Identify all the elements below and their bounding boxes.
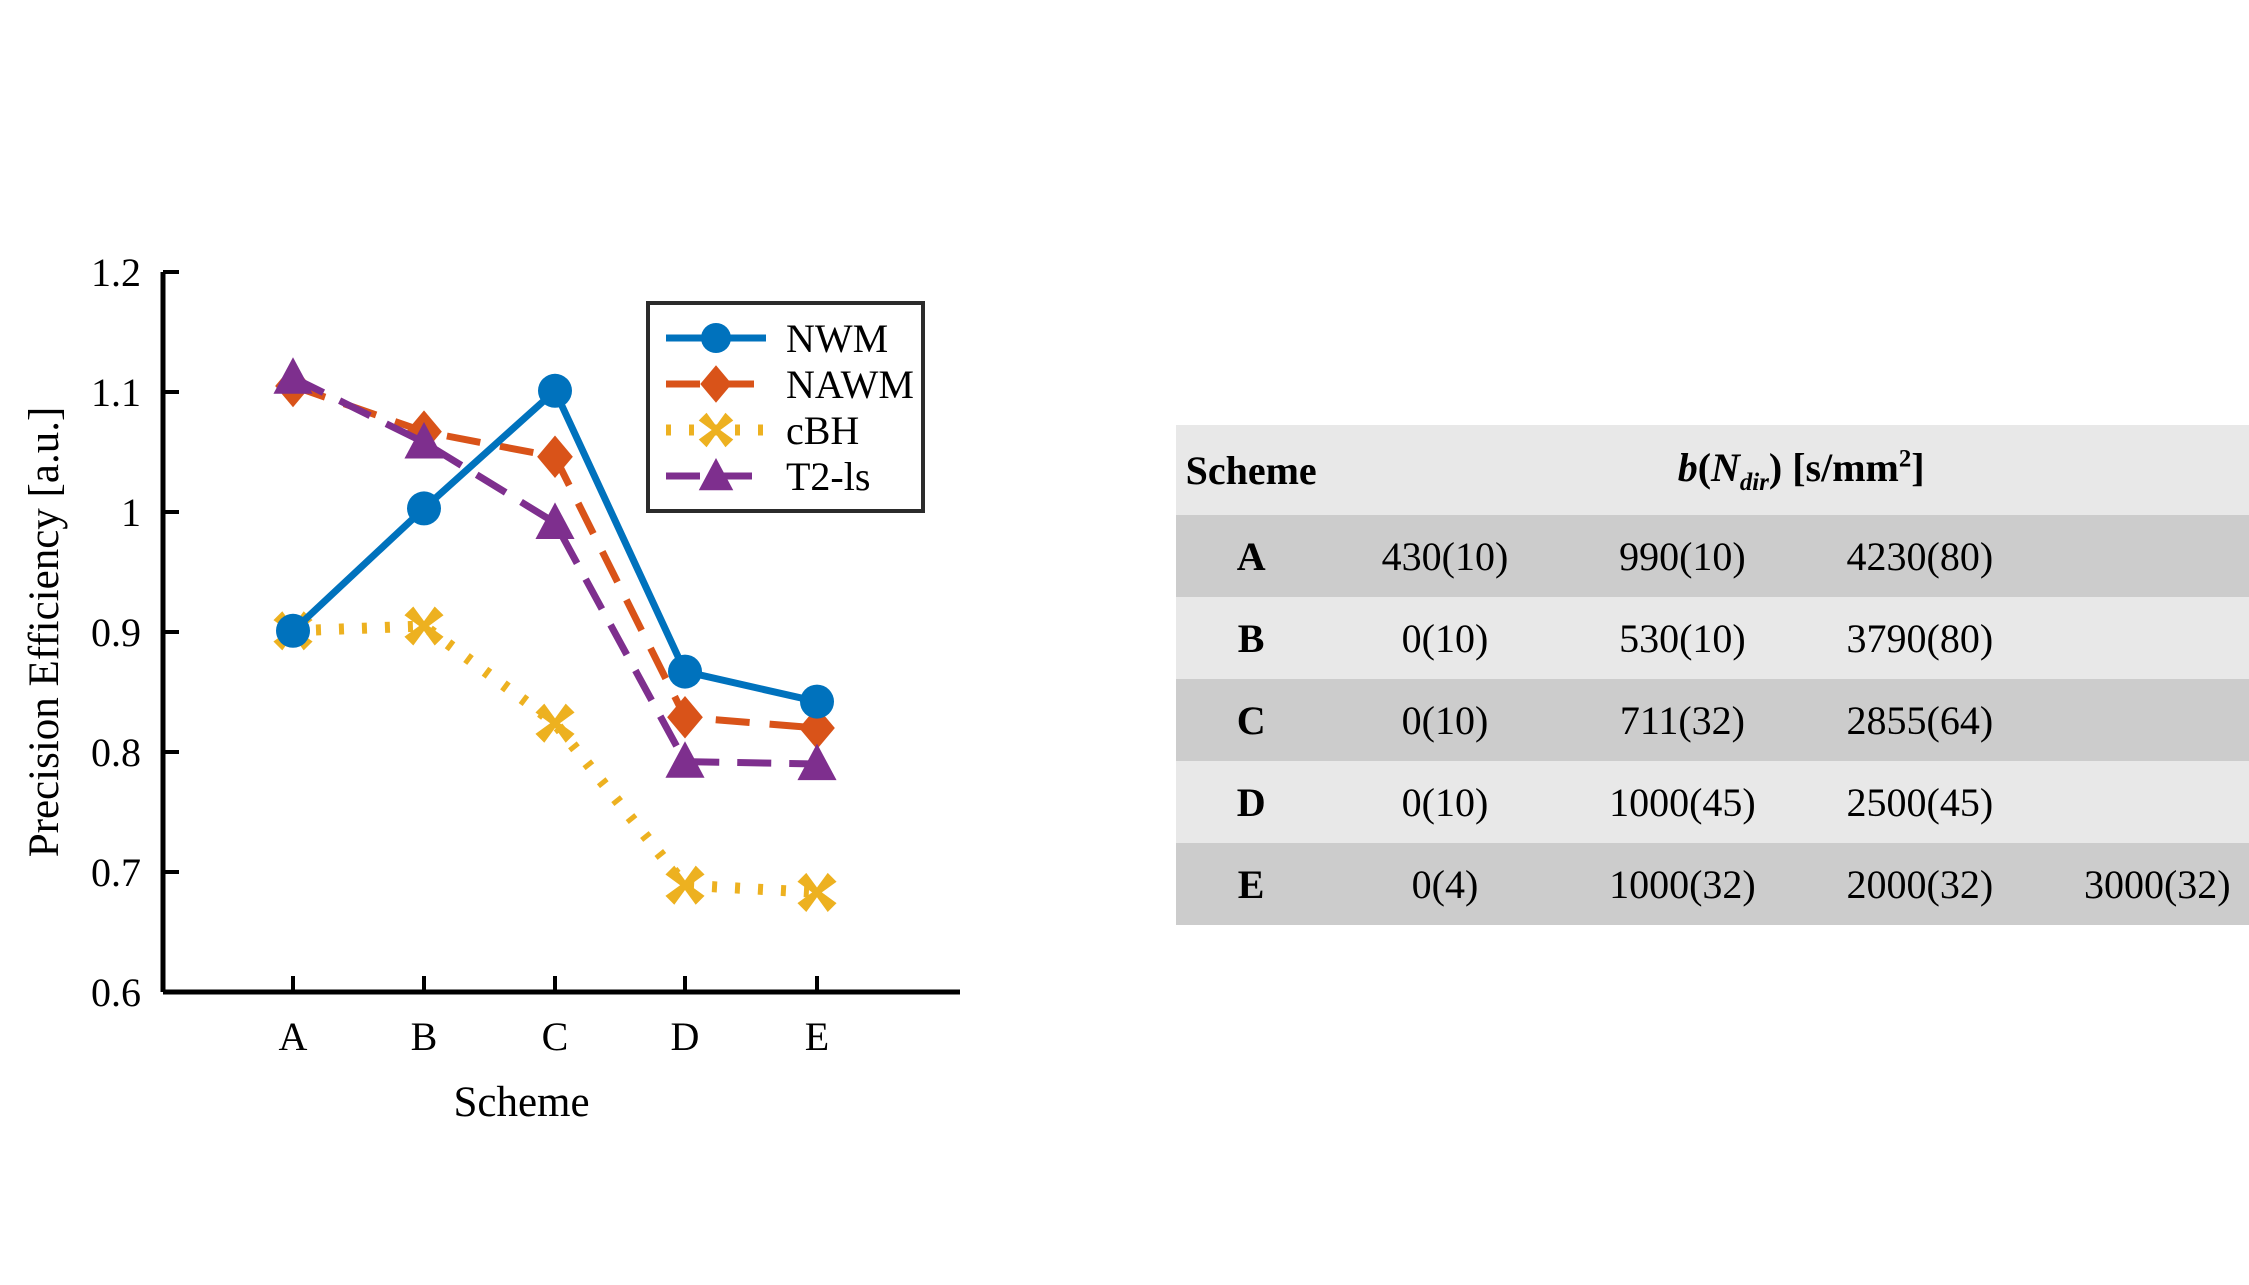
- data-point-cross: [797, 873, 836, 912]
- header-units-bracket: ]: [1911, 445, 1924, 490]
- data-point-circle: [276, 614, 310, 648]
- data-point-triangle: [273, 357, 312, 394]
- chart-legend: NWMNAWMcBHT2-ls: [648, 303, 923, 511]
- header-b-symbol: b: [1678, 445, 1698, 490]
- table-cell-scheme: D: [1176, 761, 1326, 843]
- table-row: A430(10)990(10)4230(80): [1176, 515, 2249, 597]
- table-cell-bvalue: 0(10): [1326, 679, 1563, 761]
- table-row: D0(10)1000(45)2500(45): [1176, 761, 2249, 843]
- table-cell-bvalue: 3000(32): [2039, 843, 2249, 925]
- data-point-circle: [800, 685, 834, 719]
- table-cell-bvalue: 0(10): [1326, 761, 1563, 843]
- table-cell-bvalue: 0(4): [1326, 843, 1563, 925]
- table-row: B0(10)530(10)3790(80): [1176, 597, 2249, 679]
- y-axis-title: Precision Efficiency [a.u.]: [21, 407, 68, 858]
- y-tick-label: 1.2: [91, 250, 141, 295]
- legend-label-t2-ls: T2-ls: [786, 454, 870, 499]
- x-tick-label: C: [542, 1014, 569, 1059]
- table-cell-bvalue: [2039, 679, 2249, 761]
- table-body: A430(10)990(10)4230(80)B0(10)530(10)3790…: [1176, 515, 2249, 925]
- table-header-row: Scheme b(Ndir) [s/mm2]: [1176, 425, 2249, 515]
- header-paren-open: (: [1698, 445, 1711, 490]
- x-tick-label: B: [411, 1014, 438, 1059]
- data-point-triangle: [535, 502, 574, 539]
- header-n-symbol: N: [1711, 445, 1740, 490]
- table-cell-bvalue: 2855(64): [1801, 679, 2038, 761]
- table-cell-scheme: A: [1176, 515, 1326, 597]
- table-cell-bvalue: 0(10): [1326, 597, 1563, 679]
- table-cell-bvalue: 990(10): [1564, 515, 1801, 597]
- header-units-exponent: 2: [1899, 445, 1911, 472]
- y-tick-label: 0.9: [91, 610, 141, 655]
- table-cell-bvalue: [2039, 597, 2249, 679]
- y-tick-label: 0.6: [91, 970, 141, 1015]
- data-point-diamond: [537, 436, 573, 479]
- table-cell-bvalue: 1000(32): [1564, 843, 1801, 925]
- table-row: C0(10)711(32)2855(64): [1176, 679, 2249, 761]
- data-point-circle: [668, 655, 702, 689]
- data-point-cross: [535, 704, 574, 743]
- chart-panel: 0.60.70.80.911.11.2ABCDE NWMNAWMcBHT2-ls…: [0, 0, 1100, 1285]
- legend-label-nwm: NWM: [786, 316, 888, 361]
- table-cell-bvalue: 2500(45): [1801, 761, 2038, 843]
- header-dir-sub: dir: [1740, 469, 1769, 496]
- header-bvalue: b(Ndir) [s/mm2]: [1326, 425, 2249, 515]
- legend-label-nawm: NAWM: [786, 362, 914, 407]
- table-cell-bvalue: 2000(32): [1801, 843, 2038, 925]
- scheme-parameter-table: Scheme b(Ndir) [s/mm2] A430(10)990(10)42…: [1176, 425, 2249, 925]
- series-cbh: [273, 606, 836, 912]
- data-point-circle: [538, 374, 572, 408]
- figure-root: 0.60.70.80.911.11.2ABCDE NWMNAWMcBHT2-ls…: [0, 0, 2249, 1285]
- table-cell-bvalue: [2039, 761, 2249, 843]
- y-tick-label: 1: [121, 490, 141, 535]
- header-scheme: Scheme: [1176, 425, 1326, 515]
- y-tick-label: 1.1: [91, 370, 141, 415]
- table-row: E0(4)1000(32)2000(32)3000(32): [1176, 843, 2249, 925]
- data-point-circle: [701, 323, 731, 353]
- y-tick-label: 0.7: [91, 850, 141, 895]
- header-paren-close: ): [1769, 445, 1782, 490]
- data-point-circle: [407, 491, 441, 525]
- table-cell-scheme: B: [1176, 597, 1326, 679]
- table-cell-bvalue: 430(10): [1326, 515, 1563, 597]
- table-cell-bvalue: 711(32): [1564, 679, 1801, 761]
- table-cell-bvalue: 1000(45): [1564, 761, 1801, 843]
- table-cell-bvalue: 3790(80): [1801, 597, 2038, 679]
- y-tick-label: 0.8: [91, 730, 141, 775]
- x-tick-label: E: [805, 1014, 829, 1059]
- header-units: [s/mm: [1782, 445, 1899, 490]
- table-cell-scheme: C: [1176, 679, 1326, 761]
- table-cell-bvalue: 530(10): [1564, 597, 1801, 679]
- x-tick-label: A: [279, 1014, 308, 1059]
- table-cell-bvalue: 4230(80): [1801, 515, 2038, 597]
- data-point-cross: [665, 866, 704, 905]
- table-cell-scheme: E: [1176, 843, 1326, 925]
- table-cell-bvalue: [2039, 515, 2249, 597]
- x-tick-label: D: [671, 1014, 700, 1059]
- x-axis-title: Scheme: [453, 1079, 589, 1126]
- line-chart: 0.60.70.80.911.11.2ABCDE NWMNAWMcBHT2-ls…: [0, 0, 1100, 1285]
- legend-label-cbh: cBH: [786, 408, 859, 453]
